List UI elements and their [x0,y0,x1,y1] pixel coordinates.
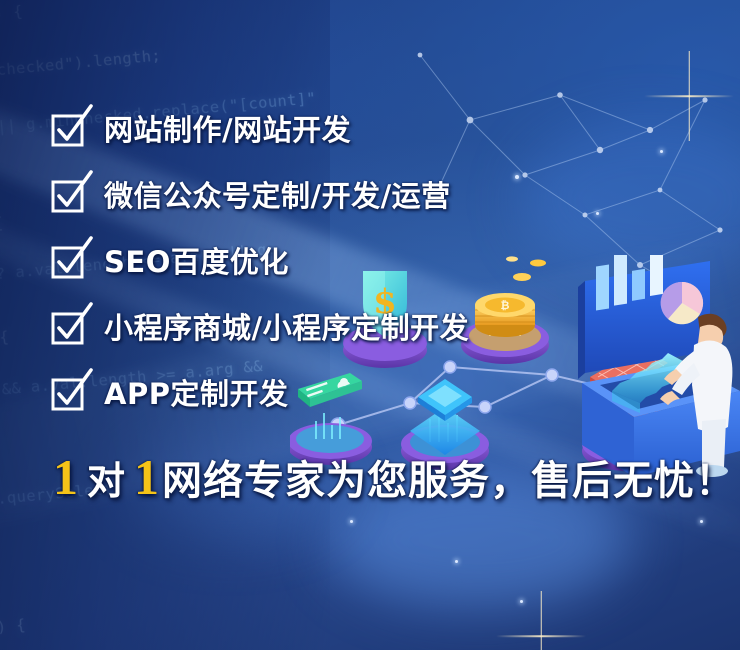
sparkle [455,560,458,563]
tagline-number-second: 1 [131,452,162,502]
checkbox-checked-icon[interactable] [52,311,82,341]
feature-item-seo[interactable]: SEO百度优化 [52,239,289,281]
sparkle [660,150,663,153]
feature-item-website[interactable]: 网站制作/网站开发 [52,107,351,149]
feature-item-wechat[interactable]: 微信公众号定制/开发/运营 [52,173,451,215]
tagline-text: 网络专家为您服务，售后无忧！ [162,461,736,501]
tagline: 1 对 1 网络专家为您服务，售后无忧！ [50,452,736,502]
promo-banner: $.queryselectAll('input[type=checkbox]')… [0,0,740,650]
sparkle [520,600,523,603]
tagline-number-first: 1 [50,452,81,502]
star-burst [540,635,542,637]
star-burst [688,95,690,97]
checkbox-checked-icon[interactable] [52,179,82,209]
checkbox-checked-icon[interactable] [52,113,82,143]
feature-label: 网站制作/网站开发 [104,107,351,149]
feature-list: 网站制作/网站开发 微信公众号定制/开发/运营 SEO百度优化 [0,0,520,440]
feature-item-miniapp[interactable]: 小程序商城/小程序定制开发 [52,305,469,347]
feature-label: 小程序商城/小程序定制开发 [104,305,469,347]
sparkle [596,212,599,215]
feature-label: SEO百度优化 [104,239,289,281]
tagline-middle-word: 对 [81,462,131,500]
feature-label: APP定制开发 [104,371,288,413]
feature-item-app[interactable]: APP定制开发 [52,371,288,413]
checkbox-checked-icon[interactable] [52,377,82,407]
sparkle [700,520,703,523]
feature-label: 微信公众号定制/开发/运营 [104,173,451,215]
checkbox-checked-icon[interactable] [52,245,82,275]
sparkle [350,520,353,523]
